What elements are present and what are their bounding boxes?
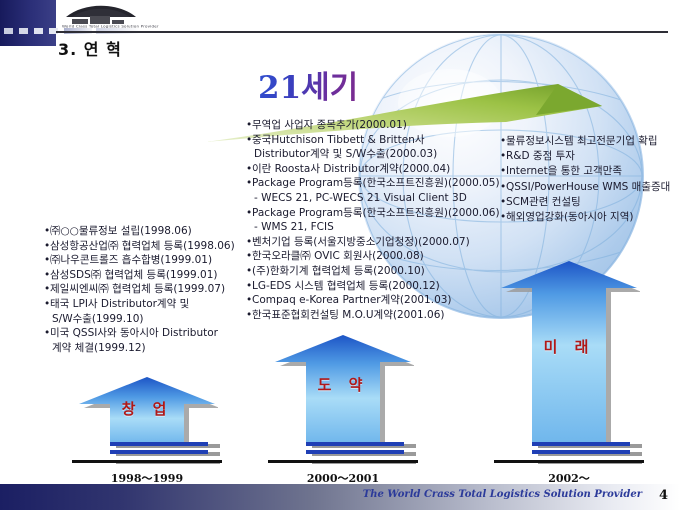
history-item-text: Package Program등록(한국소프트진흥원)(2000.05)	[252, 177, 500, 189]
history-item-text: QSSI/PowerHouse WMS 매출증대	[506, 181, 670, 193]
history-list-mid: •무역업 사업자 종목추가(2000.01)•중국Hutchison Tibbe…	[246, 118, 500, 322]
history-item-text: 태국 LPI사 Distributor계약 및	[50, 298, 189, 310]
arrow-label-right: 미 래	[498, 336, 640, 357]
history-item-text: Distributor계약 및 S/W수출(2000.03)	[254, 148, 437, 160]
history-list-right: •물류정보시스템 최고전문기업 확립•R&D 중점 투자•Internet을 통…	[500, 134, 670, 225]
timeline-baseline-right	[494, 460, 644, 463]
history-item: •중국Hutchison Tibbett & Britten사	[246, 133, 500, 148]
history-item-text: 한국오라클㈜ OVIC 회원사(2000.08)	[252, 250, 424, 262]
history-item: •Package Program등록(한국소프트진흥원)(2000.06)	[246, 206, 500, 221]
history-item: •(주)한화기계 협력업체 등록(2000.10)	[246, 264, 500, 279]
history-item-text: S/W수출(1999.10)	[52, 313, 144, 325]
history-item-text: 물류정보시스템 최고전문기업 확립	[506, 135, 658, 147]
era-heading: 21세기	[258, 62, 358, 107]
history-item-text: 미국 QSSI사와 동아시아 Distributor	[50, 327, 218, 339]
corner-accent-block	[0, 0, 56, 46]
history-item-text: Package Program등록(한국소프트진흥원)(2000.06)	[252, 207, 500, 219]
history-item: •삼성항공산업㈜ 협력업체 등록(1998.06)	[44, 239, 235, 254]
history-list-left: •㈜○○물류정보 설립(1998.06)•삼성항공산업㈜ 협력업체 등록(199…	[44, 224, 235, 355]
history-item: •Package Program등록(한국소프트진흥원)(2000.05)	[246, 176, 500, 191]
history-item: •벤처기업 등록(서울지방중소기업청정)(2000.07)	[246, 235, 500, 250]
arrow-shape-mid: 도 약	[272, 332, 414, 446]
logo-building-2	[90, 16, 110, 24]
history-item-text: 제일씨엔씨㈜ 협력업체 등록(1999.07)	[50, 283, 225, 295]
history-item: •Compaq e-Korea Partner계약(2001.03)	[246, 293, 500, 308]
history-item: •한국오라클㈜ OVIC 회원사(2000.08)	[246, 249, 500, 264]
history-item: •LG-EDS 시스템 협력업체 등록(2000.12)	[246, 279, 500, 294]
arrow-shape-right: 미 래	[498, 258, 640, 446]
history-item-text: SCM관련 컨설팅	[506, 196, 581, 208]
history-item: - WMS 21, FCIS	[246, 220, 500, 235]
history-item: S/W수출(1999.10)	[44, 312, 235, 327]
history-item: •태국 LPI사 Distributor계약 및	[44, 297, 235, 312]
history-item-text: 삼성SDS㈜ 협력업체 등록(1999.01)	[50, 269, 217, 281]
history-item: •R&D 중점 투자	[500, 149, 670, 164]
arrow-label-mid: 도 약	[272, 374, 414, 395]
history-item-text: 무역업 사업자 종목추가(2000.01)	[252, 119, 407, 131]
footer-tagline: The World Crass Total Logistics Solution…	[363, 489, 642, 500]
history-item-text: (주)한화기계 협력업체 등록(2000.10)	[252, 265, 425, 277]
history-item: •SCM관련 컨설팅	[500, 195, 670, 210]
history-item-text: ㈜○○물류정보 설립(1998.06)	[50, 225, 192, 237]
page-title: 3. 연 혁	[58, 36, 122, 60]
logo-wordmark: World Class Total Logistics Solution Pro…	[62, 24, 140, 29]
history-item-text: R&D 중점 투자	[506, 150, 575, 162]
history-item-text: Internet을 통한 고객만족	[506, 165, 622, 177]
history-item-text: ㈜나우콘트롤즈 흡수합병(1999.01)	[50, 254, 212, 266]
history-item: •㈜○○물류정보 설립(1998.06)	[44, 224, 235, 239]
timeline-baseline-left	[72, 460, 222, 463]
history-item: Distributor계약 및 S/W수출(2000.03)	[246, 147, 500, 162]
history-item: 계약 체결(1999.12)	[44, 341, 235, 356]
history-item-text: 삼성항공산업㈜ 협력업체 등록(1998.06)	[50, 240, 235, 252]
arrow-shape-left: 창 업	[76, 374, 218, 446]
history-item: •해외영업강화(동아시아 지역)	[500, 210, 670, 225]
history-item-text: LG-EDS 시스템 협력업체 등록(2000.12)	[252, 280, 440, 292]
history-item: •무역업 사업자 종목추가(2000.01)	[246, 118, 500, 133]
history-item-text: 한국표준협회컨설팅 M.O.U계약(2001.06)	[252, 309, 444, 321]
arrow-label-left: 창 업	[76, 398, 218, 419]
history-item: •미국 QSSI사와 동아시아 Distributor	[44, 326, 235, 341]
slide-canvas: World Class Total Logistics Solution Pro…	[0, 0, 680, 510]
page-number: 4	[659, 488, 668, 503]
history-item-text: - WECS 21, PC-WECS 21 Visual Client 3D	[254, 192, 467, 204]
history-item: - WECS 21, PC-WECS 21 Visual Client 3D	[246, 191, 500, 206]
history-item: •물류정보시스템 최고전문기업 확립	[500, 134, 670, 149]
history-item: •이란 Roosta사 Distributor계약(2000.04)	[246, 162, 500, 177]
history-item-text: - WMS 21, FCIS	[254, 221, 334, 233]
history-item-text: 이란 Roosta사 Distributor계약(2000.04)	[252, 163, 450, 175]
history-item: •Internet을 통한 고객만족	[500, 164, 670, 179]
history-item: •한국표준협회컨설팅 M.O.U계약(2001.06)	[246, 308, 500, 323]
history-item-text: 해외영업강화(동아시아 지역)	[506, 211, 633, 223]
company-logo: World Class Total Logistics Solution Pro…	[62, 4, 140, 30]
history-item: •㈜나우콘트롤즈 흡수합병(1999.01)	[44, 253, 235, 268]
timeline-baseline-mid	[268, 460, 418, 463]
history-item: •제일씨엔씨㈜ 협력업체 등록(1999.07)	[44, 282, 235, 297]
history-item-text: 벤처기업 등록(서울지방중소기업청정)(2000.07)	[252, 236, 470, 248]
history-item-text: 계약 체결(1999.12)	[52, 342, 146, 354]
history-item: •QSSI/PowerHouse WMS 매출증대	[500, 180, 670, 195]
history-item: •삼성SDS㈜ 협력업체 등록(1999.01)	[44, 268, 235, 283]
history-item-text: Compaq e-Korea Partner계약(2001.03)	[252, 294, 452, 306]
history-item-text: 중국Hutchison Tibbett & Britten사	[252, 134, 425, 146]
